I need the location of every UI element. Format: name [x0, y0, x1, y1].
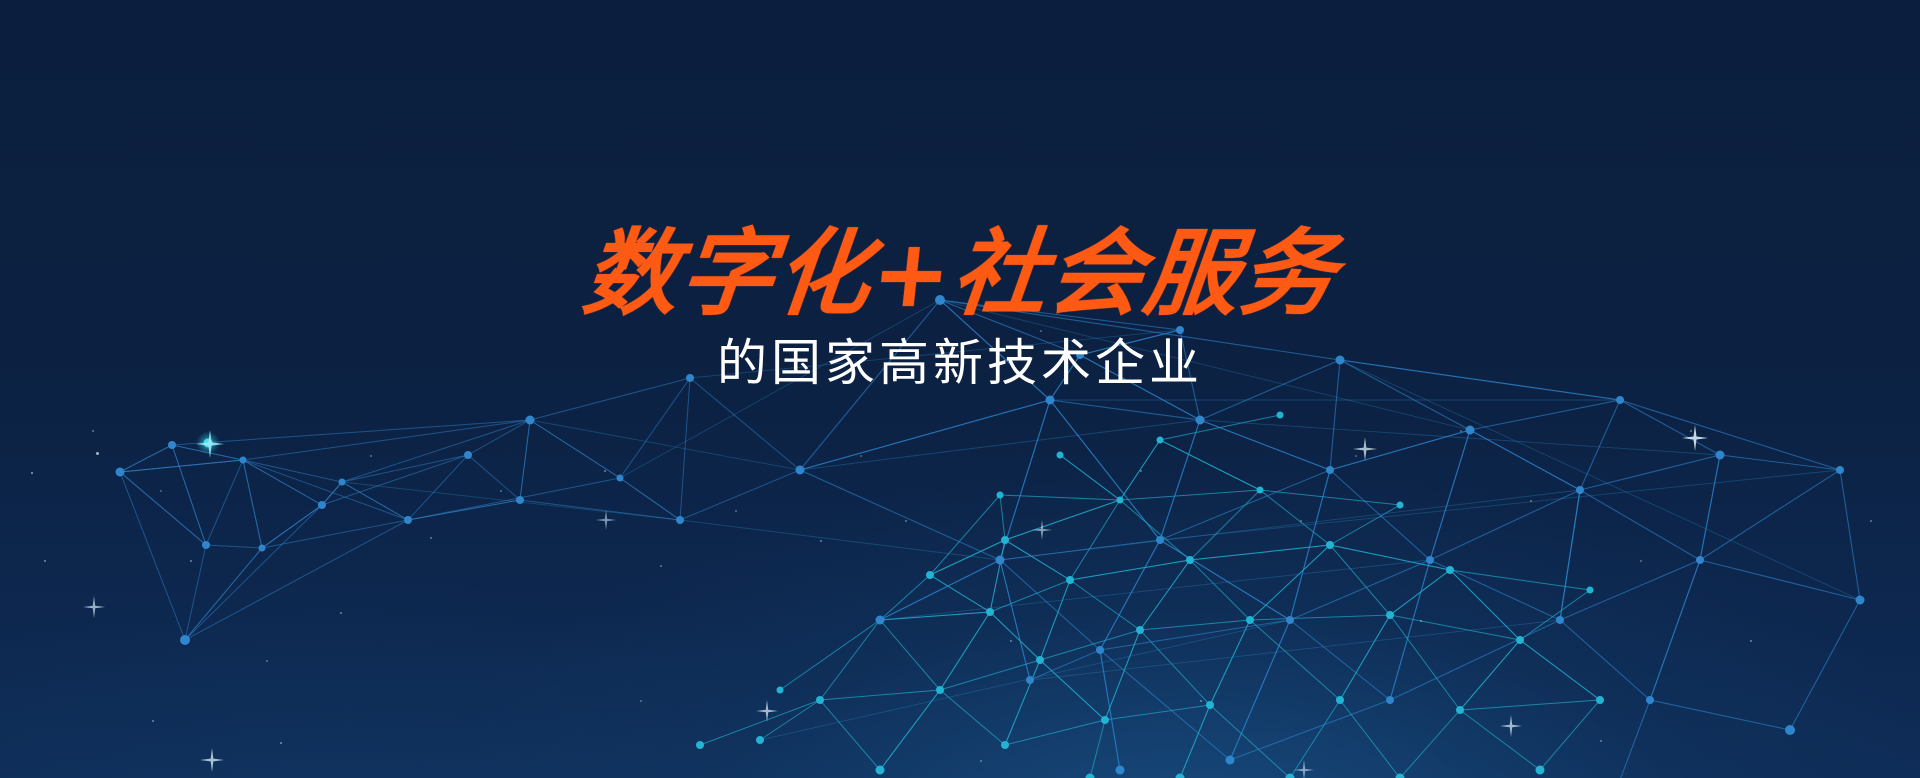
- mesh-nodes-cyan: [696, 412, 1604, 778]
- mesh-edges-cyan: [700, 415, 1600, 778]
- mesh-edges-left: [120, 378, 800, 640]
- hero-banner: 数字化+社会服务 的国家高新技术企业: [0, 0, 1920, 778]
- mesh-node-highlight: [196, 431, 220, 455]
- network-mesh-graphic: [0, 0, 1920, 778]
